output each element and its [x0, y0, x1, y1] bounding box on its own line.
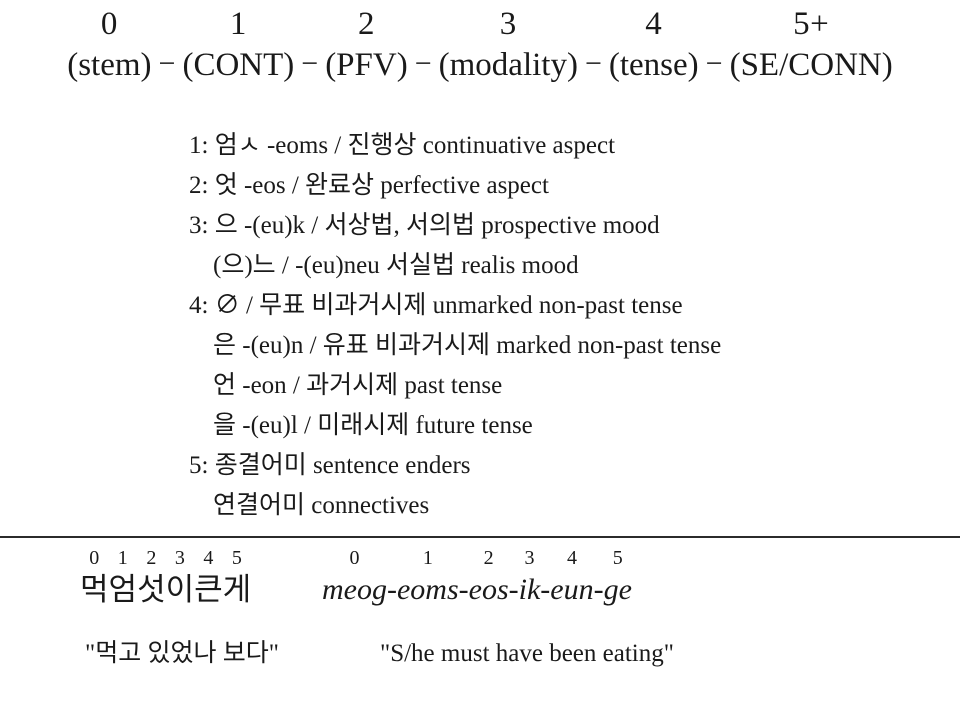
gloss-row: 0먹1엄2섯3이4큰5게 0meog-1eoms-2eos-3ik-4eun-5…	[0, 546, 960, 612]
gloss-morph-form: 이	[166, 570, 195, 610]
gloss-morph-form: 엄	[109, 570, 138, 610]
morpheme-entry-line: 2: 엇 -eos / 완료상 perfective aspect	[189, 166, 909, 206]
morpheme-continuation-line: 언 -eon / 과거시제 past tense	[189, 366, 909, 406]
morpheme-entry-line: 3: 으 -(eu)k / 서상법, 서의법 prospective mood	[189, 206, 909, 246]
romanization-unit: 1eoms	[397, 546, 459, 610]
example-gloss-block: 0먹1엄2섯3이4큰5게 0meog-1eoms-2eos-3ik-4eun-5…	[0, 546, 960, 612]
slot-label: (PFV)	[325, 44, 408, 86]
slot-template-header: 0(stem)−1(CONT)−2(PFV)−3(modality)−4(ten…	[0, 4, 960, 86]
gloss-slot-number: 3	[175, 546, 185, 570]
korean-unit: 3이	[166, 546, 195, 610]
slot-separator: −	[294, 43, 325, 85]
gloss-morph-form: 게	[223, 570, 252, 610]
section-divider	[0, 536, 960, 538]
gloss-slot-number: 0	[349, 546, 359, 570]
gloss-column-korean: 0먹1엄2섯3이4큰5게	[80, 546, 251, 610]
gloss-morph-form: 큰	[194, 570, 223, 610]
gloss-morph-form: meog	[322, 570, 387, 610]
slot-separator: −	[578, 43, 609, 85]
gloss-slot-number: 0	[89, 546, 99, 570]
gloss-column-romanization: 0meog-1eoms-2eos-3ik-4eun-5ge	[322, 546, 632, 610]
slot-label: (CONT)	[182, 44, 294, 86]
slot-index: 4	[645, 4, 662, 44]
gloss-slot-number: 4	[567, 546, 577, 570]
slot-index: 5+	[793, 4, 829, 44]
gloss-slot-number: 4	[203, 546, 213, 570]
romanization-unit: 3ik	[519, 546, 541, 610]
slot-index: 0	[101, 4, 118, 44]
slot-index: 2	[358, 4, 375, 44]
gloss-slot-number: 5	[613, 546, 623, 570]
romanization-unit: 2eos	[469, 546, 509, 610]
morpheme-entry-line: 1: 엄ㅅ -eoms / 진행상 continuative aspect	[189, 126, 909, 166]
gloss-morph-form: eos	[469, 570, 509, 610]
slot-label: (SE/CONN)	[730, 44, 893, 86]
morpheme-continuation-line: 을 -(eu)l / 미래시제 future tense	[189, 406, 909, 446]
slot-label: (modality)	[439, 44, 578, 86]
translation-target-english: "S/he must have been eating"	[380, 636, 674, 672]
morpheme-entry-line: 4: ∅ / 무표 비과거시제 unmarked non-past tense	[189, 286, 909, 326]
gloss-slot-number: 5	[232, 546, 242, 570]
gloss-morph-form: eun	[550, 570, 593, 610]
gloss-separator: -	[387, 570, 397, 610]
gloss-slot-number: 1	[423, 546, 433, 570]
gloss-morph-form: eoms	[397, 570, 459, 610]
slot-index: 3	[500, 4, 517, 44]
gloss-separator: -	[540, 570, 550, 610]
korean-unit: 4큰	[194, 546, 223, 610]
slot-label: (stem)	[67, 44, 151, 86]
slot-separator: −	[152, 43, 183, 85]
gloss-separator: -	[509, 570, 519, 610]
slot-separator: −	[699, 43, 730, 85]
morpheme-continuation-line: (으)느 / -(eu)neu 서실법 realis mood	[189, 246, 909, 286]
gloss-morph-form: 먹	[80, 570, 109, 610]
slot-group-4: 4(tense)	[609, 4, 699, 86]
slot-group-1: 1(CONT)	[182, 4, 294, 86]
morpheme-continuation-line: 은 -(eu)n / 유표 비과거시제 marked non-past tens…	[189, 326, 909, 366]
gloss-morph-form: ge	[604, 570, 632, 610]
romanization-unit: 0meog	[322, 546, 387, 610]
gloss-separator: -	[594, 570, 604, 610]
korean-unit: 0먹	[80, 546, 109, 610]
slot-group-5plus: 5+(SE/CONN)	[730, 4, 893, 86]
morpheme-continuation-line: 연결어미 connectives	[189, 486, 909, 526]
romanization-unit: 5ge	[604, 546, 632, 610]
slot-label: (tense)	[609, 44, 699, 86]
translation-row: "먹고 있었나 보다" "S/he must have been eating"	[0, 636, 960, 676]
gloss-slot-number: 1	[118, 546, 128, 570]
gloss-slot-number: 3	[524, 546, 534, 570]
slot-index: 1	[230, 4, 247, 44]
gloss-morph-form: ik	[519, 570, 541, 610]
slot-group-2: 2(PFV)	[325, 4, 408, 86]
korean-unit: 2섯	[137, 546, 166, 610]
korean-unit: 5게	[223, 546, 252, 610]
translation-source-korean: "먹고 있었나 보다"	[85, 636, 279, 672]
morpheme-inventory-list: 1: 엄ㅅ -eoms / 진행상 continuative aspect2: …	[189, 126, 909, 526]
gloss-slot-number: 2	[146, 546, 156, 570]
korean-unit: 1엄	[109, 546, 138, 610]
slot-separator: −	[408, 43, 439, 85]
gloss-slot-number: 2	[484, 546, 494, 570]
morpheme-entry-line: 5: 종결어미 sentence enders	[189, 446, 909, 486]
slot-group-3: 3(modality)	[439, 4, 578, 86]
slot-group-0: 0(stem)	[67, 4, 151, 86]
romanization-unit: 4eun	[550, 546, 593, 610]
gloss-morph-form: 섯	[137, 570, 166, 610]
gloss-separator: -	[459, 570, 469, 610]
